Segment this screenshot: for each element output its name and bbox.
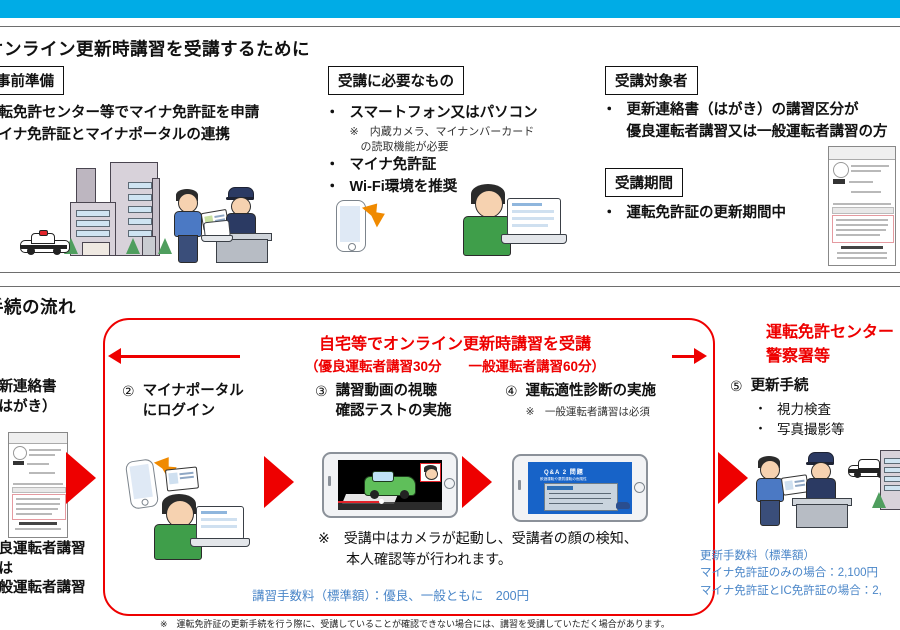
illustration-step4-quiz-phone: Q&A 2 問題 飲酒運転や悪質運転の危険性 (512, 450, 652, 524)
target-lines: ・ 更新連絡書（はがき）の講習区分が 優良運転者講習又は一般運転者講習の方 (602, 100, 888, 144)
period-item: ・ 運転免許証の更新期間中 (602, 203, 786, 225)
illustration-smartphone (330, 190, 390, 270)
illustration-step5-counter (752, 448, 900, 540)
period-line-1: 運転免許証の更新期間中 (627, 203, 787, 225)
step-5-heading: 運転免許センター 警察署等 (766, 318, 894, 366)
label-prep: 事前準備 (0, 66, 64, 95)
label-target: 受講対象者 (605, 66, 698, 95)
course-fee-text: 講習手数料（標準額）：優良、一般ともに 200円 (252, 585, 529, 604)
camera-note-line-2: 本人確認等が行われます。 (318, 549, 638, 570)
illustration-person-laptop (455, 182, 575, 272)
flow-arrow-1-icon (66, 452, 96, 504)
illustration-counter-application (168, 185, 278, 270)
prep-lines: 運転免許センター等でマイナ免許証を申請 マイナ免許証とマイナポータルの連携 (0, 103, 259, 147)
step-3-title-line-2: 確認テストの実施 (336, 402, 452, 422)
step-5-heading-line-2: 警察署等 (766, 342, 894, 366)
illustration-step2-login (128, 450, 258, 560)
banner-line-1: 自宅等でオンライン更新時講習を受講 (240, 330, 670, 354)
label-period: 受講期間 (605, 168, 683, 197)
prep-line-1: 運転免許センター等でマイナ免許証を申請 (0, 103, 259, 125)
step-1-sub-line-2: 又は (0, 560, 86, 580)
target-item: ・ 更新連絡書（はがき）の講習区分が 優良運転者講習又は一般運転者講習の方 (602, 100, 888, 144)
needed-item-note: ※ 内蔵カメラ、マイナンバーカード (350, 125, 538, 140)
needed-item-text: マイナ免許証 (350, 155, 437, 177)
step-3-title-line-1: 講習動画の視聴 (336, 382, 452, 402)
renewal-fee-line-1: 更新手数料（標準額） (700, 548, 882, 565)
needed-item-text: スマートフォン又はパソコン (350, 105, 538, 121)
camera-note: ※ 受講中はカメラが起動し、受講者の顔の検知、 本人確認等が行われます。 (318, 528, 638, 570)
label-needed: 受講に必要なもの (328, 66, 464, 95)
step-4-note: ※ 一般運転者講習は必須 (526, 404, 657, 419)
step-3-number: ③ (315, 382, 328, 401)
step-2-portal-login: ② マイナポータル にログイン (122, 382, 244, 421)
step-1-renewal-notice: 更新連絡書 （はがき） (0, 378, 57, 417)
step-5-item-text: 写真撮影等 (777, 420, 845, 440)
top-color-band (0, 0, 900, 18)
bullet-dot: ・ (602, 100, 617, 122)
bullet-dot: ・ (602, 203, 617, 225)
step-1-sub-line-3: 一般運転者講習 (0, 579, 86, 599)
online-course-banner: 自宅等でオンライン更新時講習を受講 （優良運転者講習30分 一般運転者講習60分… (240, 330, 670, 375)
renewal-fee-line-3: マイナ免許証とIC免許証の場合：2, (700, 583, 882, 600)
step-1-title-line-2: （はがき） (0, 398, 57, 418)
illustration-step3-video-phone (322, 448, 462, 518)
step-5-heading-line-1: 運転免許センター (766, 318, 894, 342)
needed-item-note-2: の読取機能が必要 (350, 140, 538, 155)
step-4-aptitude-test: ④ 運転適性診断の実施 ※ 一般運転者講習は必須 (505, 382, 656, 419)
needed-item: ・ スマートフォン又はパソコン ※ 内蔵カメラ、マイナンバーカード の読取機能が… (325, 103, 538, 154)
renewal-fee-line-2: マイナ免許証のみの場合：2,100円 (700, 565, 882, 582)
flow-arrow-3-icon (462, 456, 492, 508)
arrow-line-left (118, 355, 240, 358)
divider-rule-top (0, 26, 900, 27)
bullet-dot: ・ (325, 103, 340, 125)
divider-rule-mid-a (0, 272, 900, 273)
camera-note-line-1: ※ 受講中はカメラが起動し、受講者の顔の検知、 (318, 528, 638, 549)
bullet-dot: ・ (754, 400, 767, 419)
police-car-icon (20, 232, 70, 254)
step-2-title-line-2: にログイン (143, 402, 244, 422)
section-2-title: 手続の流れ (0, 294, 76, 319)
target-line-2: 優良運転者講習又は一般運転者講習の方 (627, 122, 888, 144)
section-1-title: オンライン更新時講習を受講するために (0, 36, 310, 61)
step-1-sub-line-1: 優良運転者講習 (0, 540, 86, 560)
step-5-renewal-procedure: ⑤ 更新手続 ・ 視力検査 ・ 写真撮影等 (730, 377, 845, 440)
target-line-1: 更新連絡書（はがき）の講習区分が (627, 100, 888, 122)
step-1-subtitle: 優良運転者講習 又は 一般運転者講習 (0, 540, 86, 599)
banner-line-2: （優良運転者講習30分 一般運転者講習60分） (240, 355, 670, 375)
prep-line-2: マイナ免許証とマイナポータルの連携 (0, 125, 259, 147)
illustration-renewal-postcard (828, 146, 894, 264)
step-5-item: ・ 視力検査 (754, 400, 845, 420)
bullet-dot: ・ (754, 420, 767, 439)
step-4-title-line-1: 運転適性診断の実施 (526, 382, 657, 402)
flow-arrow-4-icon (718, 452, 748, 504)
bullet-dot: ・ (325, 155, 340, 177)
step-5-title: 更新手続 (751, 377, 809, 397)
needed-item: ・ マイナ免許証 (325, 155, 538, 177)
step-5-item-text: 視力検査 (777, 400, 831, 420)
step-4-number: ④ (505, 382, 518, 401)
flow-arrow-2-icon (264, 456, 294, 508)
step-1-title-line-1: 更新連絡書 (0, 378, 57, 398)
step-5-item: ・ 写真撮影等 (754, 420, 845, 440)
arrow-head-right-icon (694, 348, 707, 364)
period-lines: ・ 運転免許証の更新期間中 (602, 203, 786, 225)
renewal-fee-block: 更新手数料（標準額） マイナ免許証のみの場合：2,100円 マイナ免許証とIC免… (700, 548, 882, 600)
step-5-number: ⑤ (730, 377, 743, 396)
step-3-watch-video: ③ 講習動画の視聴 確認テストの実施 (315, 382, 452, 421)
illustration-postcard-step1 (8, 432, 66, 536)
step-2-number: ② (122, 382, 135, 401)
step-2-title-line-1: マイナポータル (143, 382, 244, 402)
divider-rule-mid-b (0, 286, 900, 287)
